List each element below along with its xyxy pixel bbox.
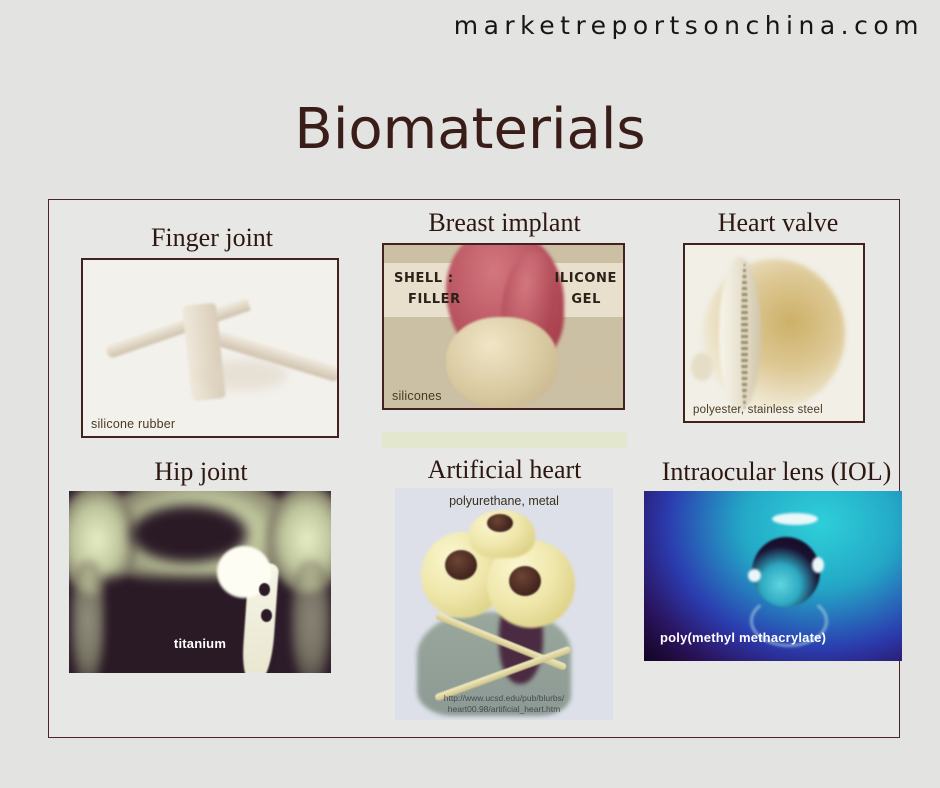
image-heart-valve: polyester, stainless steel <box>683 243 865 423</box>
card-title-breast-implant: Breast implant <box>382 209 627 236</box>
caption-intraocular-lens: poly(methyl methacrylate) <box>660 630 826 645</box>
card-intraocular-lens: Intraocular lens (IOL) poly(methyl metha… <box>644 458 909 661</box>
card-title-finger-joint: Finger joint <box>81 224 343 251</box>
overlay-filler-label: FILLER <box>408 292 461 307</box>
card-finger-joint: Finger joint silicone rubber <box>81 224 343 438</box>
image-finger-joint: silicone rubber <box>81 258 339 438</box>
image-intraocular-lens: poly(methyl methacrylate) <box>644 491 902 661</box>
site-header: marketreportsonchina.com <box>0 0 940 50</box>
image-breast-implant: SHELL : FILLER ILICONE GEL CNN silicones <box>382 243 625 410</box>
site-brand: marketreportsonchina.com <box>454 11 924 40</box>
overlay-shell-label: SHELL : <box>394 271 454 286</box>
artificial-heart-source-url: http://www.ucsd.edu/pub/blurbs/ heart00.… <box>395 693 613 714</box>
card-artificial-heart: Artificial heart polyurethane, metal htt… <box>382 456 627 720</box>
hip-xray-femur-right <box>291 561 331 673</box>
cnn-watermark: CNN <box>564 364 615 390</box>
card-breast-implant: Breast implant SHELL : FILLER ILICONE GE… <box>382 209 627 410</box>
breast-implant-gel <box>446 317 558 409</box>
heart-valve-strut <box>719 257 761 411</box>
artificial-heart-url-line-1: http://www.ucsd.edu/pub/blurbs/ <box>395 693 613 704</box>
page-title: Biomaterials <box>0 97 940 162</box>
overlay-silicone-label: ILICONE <box>554 271 617 286</box>
card-hip-joint: Hip joint titanium <box>69 458 333 673</box>
caption-finger-joint: silicone rubber <box>91 417 175 431</box>
image-artificial-heart: polyurethane, metal http://www.ucsd.edu/… <box>395 488 613 720</box>
caption-hip-joint: titanium <box>69 636 331 651</box>
divider-strip <box>382 432 627 448</box>
heart-valve-suture-ring <box>741 263 748 409</box>
finger-joint-shadow <box>201 360 287 390</box>
card-title-intraocular-lens: Intraocular lens (IOL) <box>644 458 909 485</box>
card-heart-valve: Heart valve polyester, stainless steel <box>683 209 873 423</box>
caption-breast-implant: silicones <box>392 389 442 403</box>
card-title-heart-valve: Heart valve <box>683 209 873 236</box>
hip-xray-femur-left <box>71 561 105 673</box>
caption-heart-valve: polyester, stainless steel <box>693 404 823 416</box>
card-title-hip-joint: Hip joint <box>69 458 333 485</box>
heart-valve-nub <box>691 353 713 381</box>
artificial-heart-url-line-2: heart00.98/artificial_heart.htm <box>395 704 613 715</box>
overlay-gel-label: GEL <box>571 292 601 307</box>
content-panel: Finger joint silicone rubber Breast impl… <box>48 199 900 738</box>
finger-joint-shape-left <box>105 298 251 359</box>
card-title-artificial-heart: Artificial heart <box>382 456 627 483</box>
image-hip-joint: titanium <box>69 491 331 673</box>
caption-artificial-heart-material: polyurethane, metal <box>395 494 613 508</box>
